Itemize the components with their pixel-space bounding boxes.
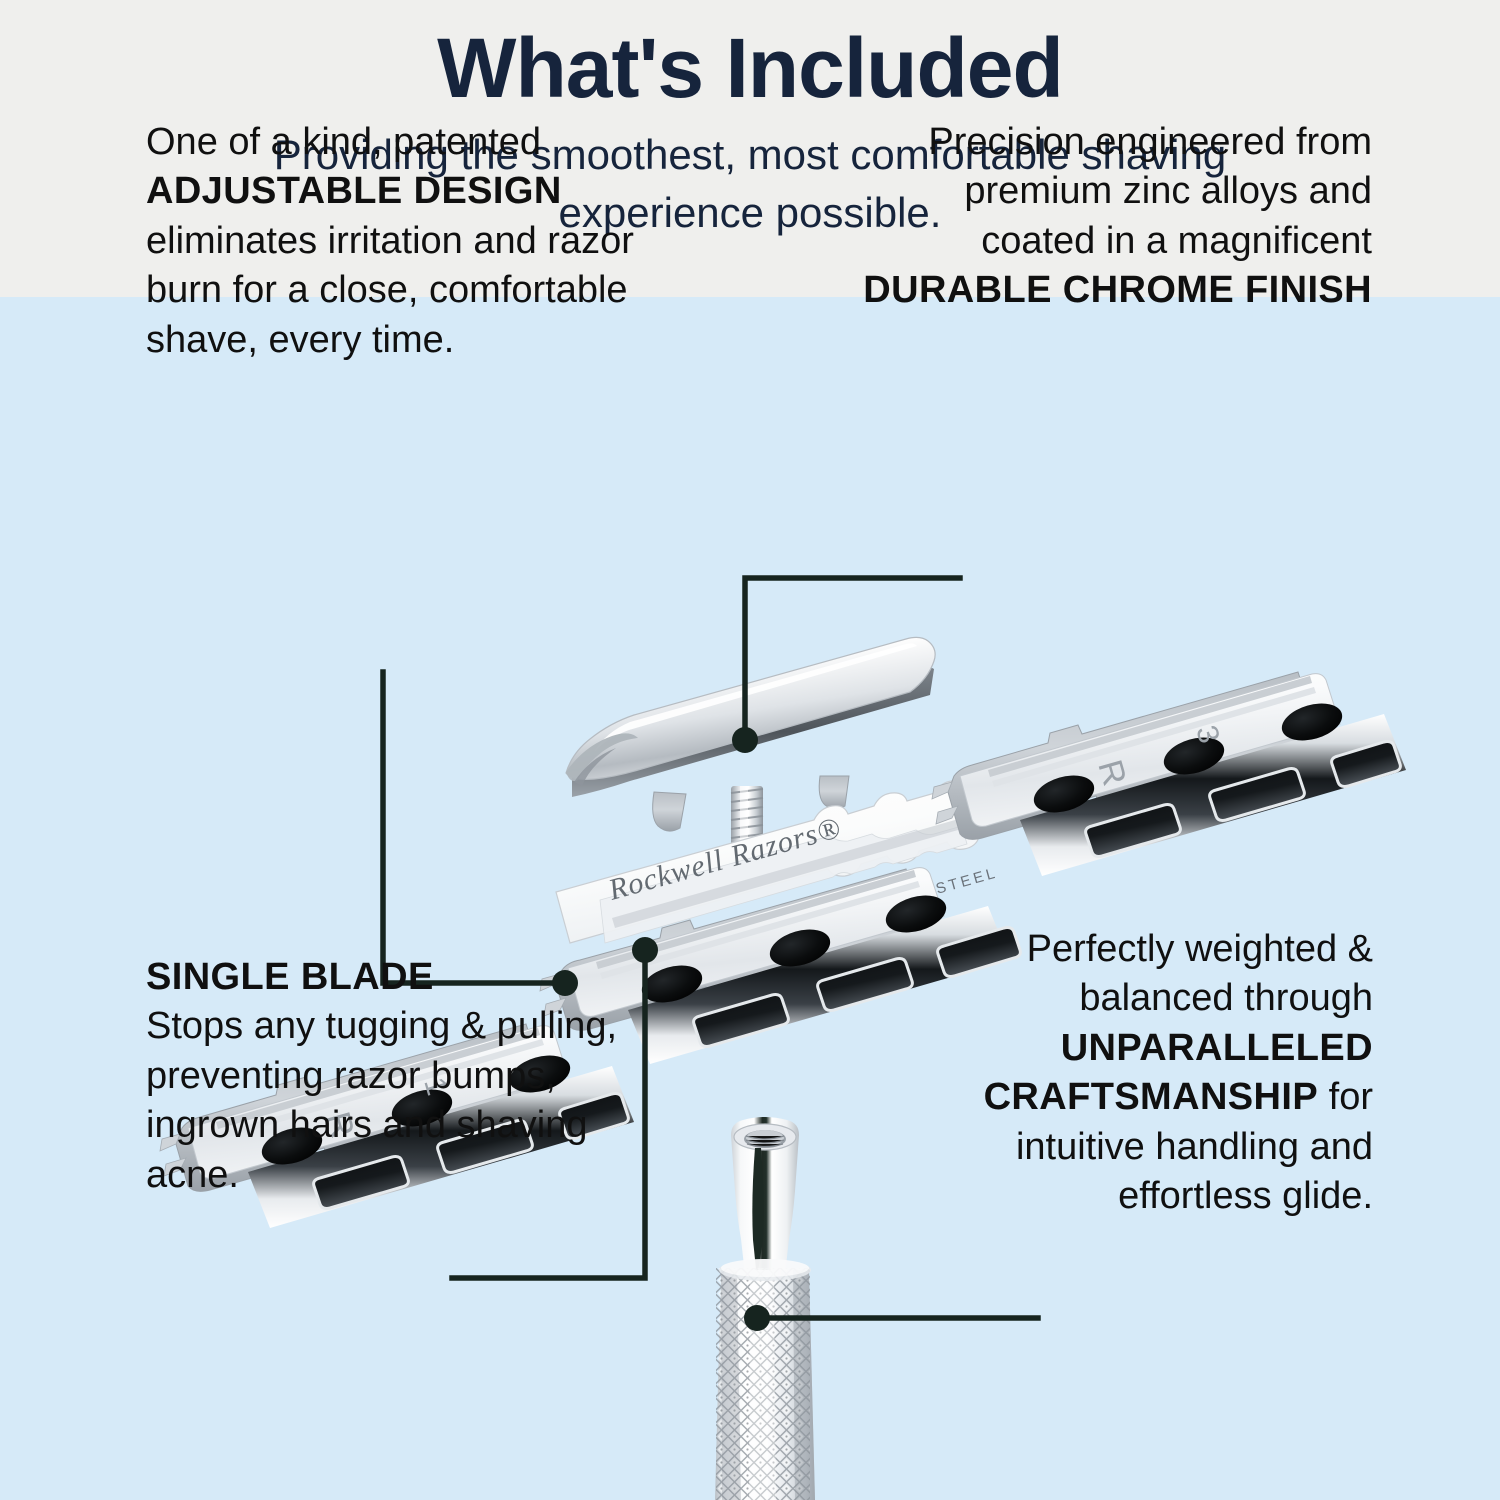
callout-adjustable-bold: ADJUSTABLE DESIGN <box>146 170 562 212</box>
callout-craft-bold: UNPARALLELED CRAFTSMANSHIP <box>984 1027 1373 1118</box>
callout-chrome-bold: DURABLE CHROME FINISH <box>863 269 1372 311</box>
callout-single-blade: SINGLE BLADE Stops any tugging & pulling… <box>146 953 646 1200</box>
callout-adjustable-lead: One of a kind, patented <box>146 121 541 163</box>
callout-durable-chrome-finish: Precision engineered from premium zinc a… <box>862 118 1372 316</box>
callout-unparalleled-craftsmanship: Perfectly weighted & balanced through UN… <box>928 925 1373 1221</box>
callout-chrome-lead: Precision engineered from premium zinc a… <box>928 121 1372 262</box>
razor-handle-art <box>715 1117 816 1500</box>
callout-single-bold: SINGLE BLADE <box>146 956 434 998</box>
callout-adjustable-design: One of a kind, patented ADJUSTABLE DESIG… <box>146 118 636 365</box>
callout-single-tail: Stops any tugging & pulling, preventing … <box>146 1005 617 1195</box>
callout-adjustable-tail: eliminates irritation and razor burn for… <box>146 220 634 361</box>
base-plate-r3-art: R 3 <box>932 672 1406 876</box>
callout-craft-lead: Perfectly weighted & balanced through <box>1027 928 1373 1019</box>
